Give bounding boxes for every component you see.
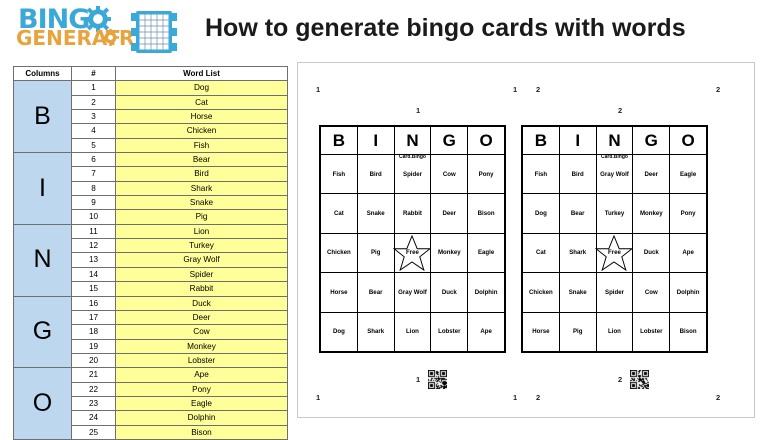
row-number: 25 <box>72 425 116 439</box>
row-number: 8 <box>72 181 116 195</box>
bingo-header-o: O <box>468 127 505 155</box>
bingo-cell[interactable]: Spider <box>596 273 633 312</box>
word-cell[interactable]: Eagle <box>116 396 288 410</box>
bingo-cell-text: Pony <box>681 210 696 217</box>
bingo-cell[interactable]: Shark <box>559 233 596 272</box>
word-cell[interactable]: Pony <box>116 382 288 396</box>
corner-mark: 1 <box>316 85 320 94</box>
bingo-header-b: B <box>321 127 358 155</box>
bingo-cell-text: Chicken <box>327 249 351 256</box>
bingo-free-cell[interactable]: Free <box>394 233 431 272</box>
bingo-cell[interactable]: Lion <box>394 312 431 351</box>
bingo-card-row: HorseBearGray WolfDuckDolphin <box>321 273 505 312</box>
bingo-header-n: N <box>596 127 633 155</box>
bingo-cell-text: Chicken <box>529 289 553 296</box>
row-number: 1 <box>72 81 116 95</box>
bingo-cell-text: Cat <box>334 210 344 217</box>
bingo-cell[interactable]: Deer <box>633 155 670 194</box>
word-cell[interactable]: Bear <box>116 153 288 167</box>
bingo-header-g: G <box>633 127 670 155</box>
bingo-cell[interactable]: Monkey <box>431 233 468 272</box>
row-number: 17 <box>72 310 116 324</box>
bingo-card-row: FishBirdCard.BingoGray WolfDeerEagle <box>523 155 707 194</box>
bingo-cell-text: Ape <box>682 249 694 256</box>
gear-icon-small <box>102 29 119 46</box>
corner-mark: 2 <box>536 85 540 94</box>
word-cell[interactable]: Spider <box>116 267 288 281</box>
bingo-cell[interactable]: Pig <box>357 233 394 272</box>
row-number: 4 <box>72 124 116 138</box>
bingo-cell-text: Lobster <box>438 328 460 335</box>
row-number: 13 <box>72 253 116 267</box>
card-source-label: Card.Bingo <box>601 154 628 160</box>
bingo-cell-text: Gray Wolf <box>600 171 629 178</box>
bingo-cell[interactable]: Lion <box>596 312 633 351</box>
bingo-cell-text: Eagle <box>478 249 494 256</box>
corner-mark: 2 <box>536 393 540 402</box>
bingo-cell-text: Shark <box>569 249 586 256</box>
card-preview-panel: 111222112122 BINGOFishBirdCard.BingoSpid… <box>297 62 755 418</box>
corner-mark: 2 <box>618 106 622 115</box>
bingo-cell-text: Bison <box>680 328 697 335</box>
table-row: G16Duck <box>14 296 288 310</box>
bingo-cell-text: Snake <box>569 289 587 296</box>
word-cell[interactable]: Cat <box>116 95 288 109</box>
bingo-header-i: I <box>559 127 596 155</box>
bingo-cell-text: Bird <box>572 171 584 178</box>
corner-mark: 1 <box>316 393 320 402</box>
bingo-cell-text: Gray Wolf <box>398 289 427 296</box>
card-source-label: Card.Bingo <box>399 154 426 160</box>
bingo-cell-text: Bear <box>369 289 383 296</box>
row-number: 24 <box>72 411 116 425</box>
row-number: 3 <box>72 110 116 124</box>
bingo-header-g: G <box>431 127 468 155</box>
bingo-cell-text: Fish <box>333 171 346 178</box>
bingo-cell[interactable]: Horse <box>523 312 560 351</box>
bingo-cell[interactable]: Deer <box>431 194 468 233</box>
bingo-cell[interactable]: Ape <box>468 312 505 351</box>
bingo-cell[interactable]: Eagle <box>468 233 505 272</box>
bingo-cell-text: Bison <box>478 210 495 217</box>
corner-mark: 1 <box>416 375 420 384</box>
column-letter-o: O <box>14 368 72 440</box>
word-cell[interactable]: Horse <box>116 110 288 124</box>
bingo-cell-text: Pig <box>371 249 380 256</box>
column-letter-i: I <box>14 153 72 225</box>
bingo-cell-text: Rabbit <box>403 210 422 217</box>
header-word-list: Word List <box>116 67 288 81</box>
bingo-cell[interactable]: Pig <box>559 312 596 351</box>
bingo-cell-text: Duck <box>644 249 659 256</box>
row-number: 7 <box>72 167 116 181</box>
column-letter-g: G <box>14 296 72 368</box>
bingo-cell[interactable]: Dolphin <box>670 273 707 312</box>
bingo-card-row: ChickenSnakeSpiderCowDolphin <box>523 273 707 312</box>
word-cell[interactable]: Ape <box>116 368 288 382</box>
bingo-card-icon <box>130 10 178 54</box>
bingo-cell-text: Free <box>608 249 621 256</box>
bingo-cell-text: Cow <box>443 171 456 178</box>
bingo-card-row: CatSharkFreeDuckApe <box>523 233 707 272</box>
row-number: 22 <box>72 382 116 396</box>
row-number: 14 <box>72 267 116 281</box>
bingo-cell[interactable]: Ape <box>670 233 707 272</box>
table-row: N11Lion <box>14 224 288 238</box>
row-number: 19 <box>72 339 116 353</box>
bingo-cell-text: Lobster <box>640 328 662 335</box>
header-number: # <box>72 67 116 81</box>
bingo-cell-text: Deer <box>443 210 457 217</box>
bingo-cell[interactable]: Eagle <box>670 155 707 194</box>
word-cell[interactable]: Fish <box>116 138 288 152</box>
bingo-cell-text: Monkey <box>438 249 461 256</box>
word-cell[interactable]: Duck <box>116 296 288 310</box>
bingo-cell-text: Cat <box>536 249 546 256</box>
bingo-generator-logo[interactable]: BING GENERAT <box>10 4 190 56</box>
bingo-cell-text: Lion <box>608 328 621 335</box>
page-header: BING GENERAT <box>0 0 768 60</box>
bingo-card-header-row: BINGO <box>523 127 707 155</box>
bingo-cell[interactable]: Snake <box>559 273 596 312</box>
bingo-cell[interactable]: Monkey <box>633 194 670 233</box>
row-number: 6 <box>72 153 116 167</box>
bingo-cell-text: Monkey <box>640 210 663 217</box>
bingo-card-1[interactable]: BINGOFishBirdCard.BingoSpiderCowPonyCatS… <box>319 125 506 353</box>
bingo-cell-text: Pig <box>573 328 582 335</box>
bingo-cell[interactable]: Card.BingoGray Wolf <box>596 155 633 194</box>
bingo-header-n: N <box>394 127 431 155</box>
bingo-cell[interactable]: Dolphin <box>468 273 505 312</box>
bingo-cell[interactable]: Chicken <box>523 273 560 312</box>
bingo-card-2[interactable]: BINGOFishBirdCard.BingoGray WolfDeerEagl… <box>521 125 708 353</box>
word-cell[interactable]: Deer <box>116 310 288 324</box>
bingo-header-o: O <box>670 127 707 155</box>
word-cell[interactable]: Dog <box>116 81 288 95</box>
bingo-cell[interactable]: Lobster <box>633 312 670 351</box>
bingo-cell[interactable]: Turkey <box>596 194 633 233</box>
row-number: 12 <box>72 239 116 253</box>
bingo-cell[interactable]: Cat <box>523 233 560 272</box>
bingo-card-row: DogBearTurkeyMonkeyPony <box>523 194 707 233</box>
bingo-cell[interactable]: Cow <box>633 273 670 312</box>
bingo-cell[interactable]: Snake <box>357 194 394 233</box>
bingo-cell[interactable]: Bison <box>670 312 707 351</box>
row-number: 18 <box>72 325 116 339</box>
bingo-card-row: CatSnakeRabbitDeerBison <box>321 194 505 233</box>
bingo-cell[interactable]: Dog <box>321 312 358 351</box>
word-cell[interactable]: Lobster <box>116 353 288 367</box>
bingo-cell-text: Dog <box>535 210 547 217</box>
corner-mark: 2 <box>716 85 720 94</box>
row-number: 16 <box>72 296 116 310</box>
column-letter-b: B <box>14 81 72 153</box>
page-title: How to generate bingo cards with words <box>205 14 686 43</box>
word-cell[interactable]: Lion <box>116 224 288 238</box>
bingo-cell-text: Duck <box>442 289 457 296</box>
bingo-cell[interactable]: Pony <box>468 155 505 194</box>
bingo-cell[interactable]: Chicken <box>321 233 358 272</box>
row-number: 15 <box>72 282 116 296</box>
bingo-card-row: FishBirdCard.BingoSpiderCowPony <box>321 155 505 194</box>
bingo-cell-text: Free <box>406 249 419 256</box>
word-cell[interactable]: Snake <box>116 196 288 210</box>
row-number: 21 <box>72 368 116 382</box>
word-list-table: Columns # Word List B1Dog2Cat3Horse4Chic… <box>13 66 288 440</box>
word-cell[interactable]: Bison <box>116 425 288 439</box>
bingo-cell[interactable]: Gray Wolf <box>394 273 431 312</box>
bingo-cell-text: Turkey <box>605 210 625 217</box>
corner-mark: 1 <box>416 106 420 115</box>
header-columns: Columns <box>14 67 72 81</box>
bingo-free-cell[interactable]: Free <box>596 233 633 272</box>
bingo-cell[interactable]: Fish <box>523 155 560 194</box>
bingo-header-i: I <box>357 127 394 155</box>
row-number: 5 <box>72 138 116 152</box>
qr-code-card-2 <box>630 370 649 389</box>
corner-mark: 1 <box>513 85 517 94</box>
word-cell[interactable]: Bird <box>116 167 288 181</box>
bingo-cell-text: Cow <box>645 289 658 296</box>
bingo-cell[interactable]: Bear <box>357 273 394 312</box>
bingo-cell-text: Dolphin <box>475 289 498 296</box>
bingo-cell-text: Pony <box>479 171 494 178</box>
corner-mark: 2 <box>618 375 622 384</box>
bingo-cell-text: Eagle <box>680 171 696 178</box>
row-number: 20 <box>72 353 116 367</box>
bingo-cell-text: Spider <box>605 289 624 296</box>
row-number: 9 <box>72 196 116 210</box>
bingo-cell[interactable]: Horse <box>321 273 358 312</box>
bingo-cell[interactable]: Lobster <box>431 312 468 351</box>
row-number: 2 <box>72 95 116 109</box>
bingo-cell[interactable]: Bird <box>559 155 596 194</box>
bingo-cell-text: Lion <box>406 328 419 335</box>
bingo-cell-text: Bear <box>571 210 585 217</box>
table-row: O21Ape <box>14 368 288 382</box>
column-letter-n: N <box>14 224 72 296</box>
qr-code-card-1 <box>428 370 447 389</box>
word-cell[interactable]: Cow <box>116 325 288 339</box>
bingo-card-row: DogSharkLionLobsterApe <box>321 312 505 351</box>
bingo-cell-text: Ape <box>480 328 492 335</box>
word-cell[interactable]: Rabbit <box>116 282 288 296</box>
word-cell[interactable]: Dolphin <box>116 411 288 425</box>
bingo-cell-text: Snake <box>367 210 385 217</box>
bingo-cell[interactable]: Shark <box>357 312 394 351</box>
table-row: B1Dog <box>14 81 288 95</box>
bingo-cell[interactable]: Rabbit <box>394 194 431 233</box>
bingo-cell[interactable]: Bird <box>357 155 394 194</box>
row-number: 23 <box>72 396 116 410</box>
bingo-cell[interactable]: Bison <box>468 194 505 233</box>
bingo-cell-text: Horse <box>330 289 347 296</box>
word-cell[interactable]: Pig <box>116 210 288 224</box>
bingo-header-b: B <box>523 127 560 155</box>
table-row: I6Bear <box>14 153 288 167</box>
word-cell[interactable]: Gray Wolf <box>116 253 288 267</box>
bingo-card-header-row: BINGO <box>321 127 505 155</box>
bingo-cell-text: Deer <box>645 171 659 178</box>
bingo-cell[interactable]: Pony <box>670 194 707 233</box>
bingo-cell[interactable]: Fish <box>321 155 358 194</box>
bingo-cell-text: Spider <box>403 171 422 178</box>
row-number: 11 <box>72 224 116 238</box>
bingo-cell[interactable]: Cow <box>431 155 468 194</box>
word-cell[interactable]: Chicken <box>116 124 288 138</box>
bingo-cell-text: Shark <box>367 328 384 335</box>
row-number: 10 <box>72 210 116 224</box>
word-cell[interactable]: Monkey <box>116 339 288 353</box>
table-header-row: Columns # Word List <box>14 67 288 81</box>
bingo-cell[interactable]: Card.BingoSpider <box>394 155 431 194</box>
bingo-cell-text: Horse <box>532 328 549 335</box>
bingo-cell-text: Bird <box>370 171 382 178</box>
bingo-cell-text: Fish <box>535 171 548 178</box>
corner-mark: 1 <box>513 393 517 402</box>
bingo-cell-text: Dolphin <box>677 289 700 296</box>
bingo-card-row: HorsePigLionLobsterBison <box>523 312 707 351</box>
bingo-cell[interactable]: Bear <box>559 194 596 233</box>
bingo-cell[interactable]: Duck <box>633 233 670 272</box>
bingo-cell-text: Dog <box>333 328 345 335</box>
corner-mark: 2 <box>716 393 720 402</box>
bingo-cell[interactable]: Duck <box>431 273 468 312</box>
word-cell[interactable]: Shark <box>116 181 288 195</box>
word-cell[interactable]: Turkey <box>116 239 288 253</box>
bingo-card-row: ChickenPigFreeMonkeyEagle <box>321 233 505 272</box>
bingo-cell[interactable]: Dog <box>523 194 560 233</box>
bingo-cell[interactable]: Cat <box>321 194 358 233</box>
